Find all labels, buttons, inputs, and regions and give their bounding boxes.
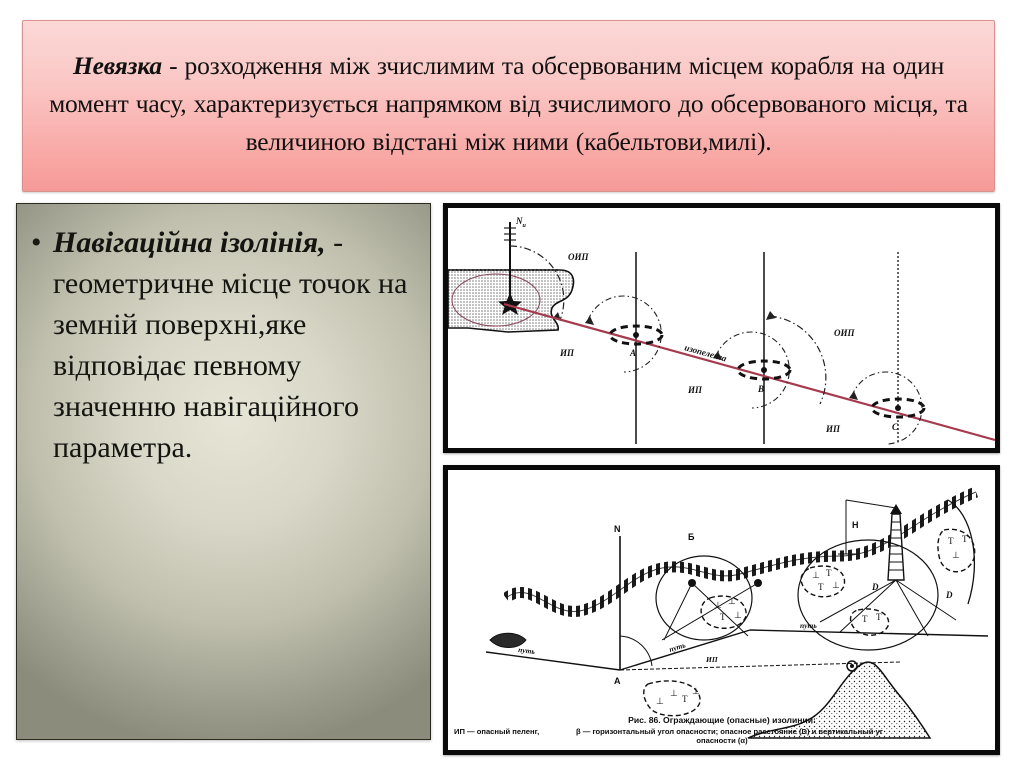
landmark-b2-dot [754,579,762,587]
isoline-text: Навігаційна ізолінія, - геометричне місц… [53,222,416,469]
label-point-b-2: Б [688,532,695,542]
isoline-bullet-row: • Навігаційна ізолінія, - геометричне мі… [17,204,430,469]
label-bearing-ip: ИП [705,655,719,664]
svg-text:⊥: ⊥ [728,596,736,606]
figure-column: Nи ОИП ИП A [443,203,1000,755]
isoline-definition-panel: • Навігаційна ізолінія, - геометричне мі… [16,203,431,740]
label-ip-b: ИП [687,385,703,395]
definition-text: Невязка - розходження між зчислимим та о… [41,47,976,160]
label-height: H [852,520,859,530]
danger-isolines-svg: N Б ⊥⊥ T⊥ [448,470,995,750]
definition-term: Невязка [73,51,162,80]
svg-text:T: T [818,582,824,592]
svg-text:T: T [826,568,832,578]
svg-text:⊥: ⊥ [734,610,742,620]
svg-text:T: T [876,612,882,622]
definition-banner: Невязка - розходження між зчислимим та о… [22,20,995,192]
svg-text:T: T [948,536,954,546]
label-distance-2: D [945,590,953,600]
label-point-a-2: A [614,676,621,686]
label-ip-a: ИП [559,348,575,358]
isoline-term: Навігаційна ізолінія, [53,226,326,259]
svg-text:T: T [962,534,968,544]
figure-caption-title: Рис. 86. Ограждающие (опасные) изолинии: [628,715,816,725]
figure-caption-line-1-left: ИП — опасный пеленг, [454,727,539,736]
label-obp-top: ОИП [568,252,590,262]
svg-text:⊥: ⊥ [670,688,678,698]
label-distance: D [871,582,879,592]
label-point-c: C [892,422,899,432]
cape-landmark-dot [850,664,854,668]
svg-text:T: T [862,614,868,624]
label-path-3: путь [800,621,817,630]
figure-caption-line-2: опасности (α) [696,736,748,745]
bullet-point-icon: • [31,222,53,264]
isopeleng-diagram: Nи ОИП ИП A [443,203,1000,453]
svg-text:⊥: ⊥ [714,600,722,610]
isopeleng-diagram-svg: Nи ОИП ИП A [448,208,995,448]
svg-text:⊥: ⊥ [832,580,840,590]
isoline-body-text: - геометричне місце точок на земній пове… [53,226,407,464]
svg-text:⊥: ⊥ [656,696,664,706]
label-point-a: A [629,348,636,358]
svg-text:⊥: ⊥ [812,570,820,580]
svg-text:T: T [682,694,688,704]
svg-text:⊥: ⊥ [952,550,960,560]
label-north-2: N [614,524,621,534]
label-obp-right: ОИП [834,328,856,338]
svg-text:T: T [720,612,726,622]
svg-text:⊥: ⊥ [692,686,700,696]
danger-isolines-diagram: N Б ⊥⊥ T⊥ [443,465,1000,755]
label-ip-c: ИП [825,424,841,434]
figure-caption-line-1-right: β — горизонтальный угол опасности; опасн… [576,727,883,736]
label-point-b: B [757,384,764,394]
definition-body: - розходження між зчислимим та обсервова… [49,51,968,155]
